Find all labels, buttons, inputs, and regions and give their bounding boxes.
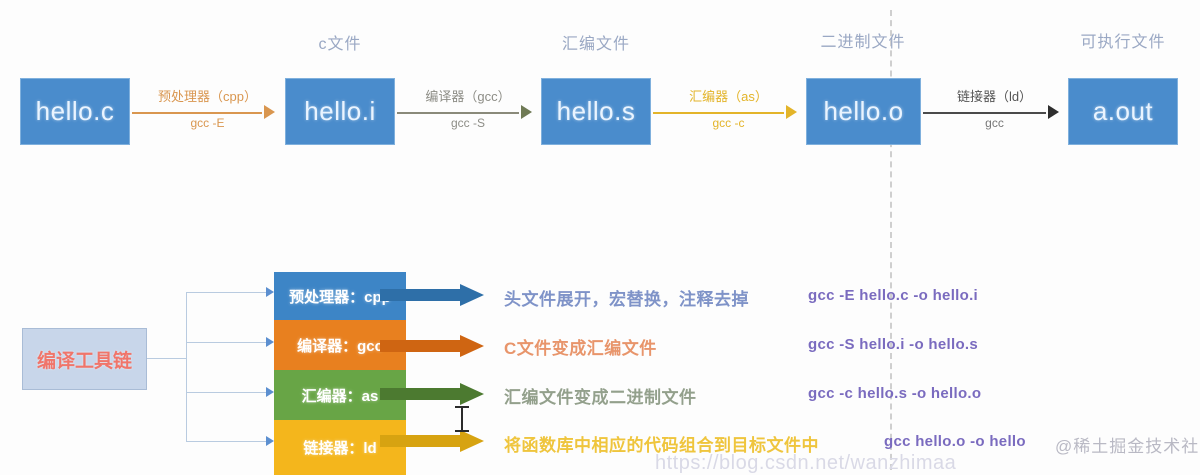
edge-assemble-line xyxy=(653,112,784,114)
stage-description-assembler: 汇编文件变成二进制文件 xyxy=(504,383,697,408)
edge-preprocess: 预处理器（cpp） gcc -E xyxy=(132,82,283,142)
edge-preprocess-line xyxy=(132,112,262,114)
toolchain-box[interactable]: 编译工具链 xyxy=(22,328,147,390)
result-arrow-preprocessor-shaft xyxy=(380,289,460,301)
result-arrow-linker-shaft xyxy=(380,435,460,447)
edge-preprocess-command: gcc -E xyxy=(132,116,283,130)
stage-command-assembler: gcc -c hello.s -o hello.o xyxy=(808,385,981,402)
stage-description-compiler: C文件变成汇编文件 xyxy=(504,334,657,359)
branch-arrow-3-icon xyxy=(266,387,274,397)
result-arrow-compiler xyxy=(380,335,485,357)
text-cursor-stem xyxy=(461,408,463,430)
branch-arm-2 xyxy=(186,342,266,343)
edge-link-label: 链接器（ld） xyxy=(923,86,1066,105)
diagram-canvas: c文件 汇编文件 二进制文件 可执行文件 hello.c hello.i hel… xyxy=(0,0,1200,475)
edge-compile-label: 编译器（gcc） xyxy=(397,86,539,105)
node-hello-s[interactable]: hello.s xyxy=(541,78,651,145)
result-arrow-linker-head xyxy=(460,430,484,452)
result-arrow-assembler-head xyxy=(460,383,484,405)
edge-assemble-label: 汇编器（as） xyxy=(653,86,804,105)
edge-compile-command: gcc -S xyxy=(397,116,539,130)
node-a-out[interactable]: a.out xyxy=(1068,78,1178,145)
edge-assemble-command: gcc -c xyxy=(653,116,804,130)
edge-link-line xyxy=(923,112,1046,114)
caption-hello-i: c文件 xyxy=(280,30,400,54)
branch-arm-3 xyxy=(186,392,266,393)
node-hello-o[interactable]: hello.o xyxy=(806,78,921,145)
watermark-url: https://blog.csdn.net/wanzhimaa xyxy=(655,452,956,475)
edge-preprocess-label: 预处理器（cpp） xyxy=(132,86,283,105)
stage-command-preprocessor: gcc -E hello.c -o hello.i xyxy=(808,287,978,304)
stage-command-linker: gcc hello.o -o hello xyxy=(884,433,1026,450)
branch-arm-1 xyxy=(186,292,266,293)
result-arrow-preprocessor-head xyxy=(460,284,484,306)
node-hello-c[interactable]: hello.c xyxy=(20,78,130,145)
branch-arrow-1-icon xyxy=(266,287,274,297)
branch-arrow-4-icon xyxy=(266,436,274,446)
result-arrow-assembler-shaft xyxy=(380,388,460,400)
caption-hello-o: 二进制文件 xyxy=(793,28,933,52)
stage-description-preprocessor: 头文件展开，宏替换，注释去掉 xyxy=(504,285,749,310)
edge-compile: 编译器（gcc） gcc -S xyxy=(397,82,539,142)
edge-link: 链接器（ld） gcc xyxy=(923,82,1066,142)
edge-compile-line xyxy=(397,112,519,114)
caption-a-out: 可执行文件 xyxy=(1053,28,1193,52)
watermark-brand: @稀土掘金技术社区 xyxy=(1055,432,1200,457)
edge-link-command: gcc xyxy=(923,116,1066,130)
result-arrow-assembler xyxy=(380,383,485,405)
branch-spine xyxy=(186,292,187,442)
result-arrow-preprocessor xyxy=(380,284,485,306)
result-arrow-compiler-shaft xyxy=(380,340,460,352)
caption-hello-s: 汇编文件 xyxy=(536,30,656,54)
result-arrow-linker xyxy=(380,430,485,452)
branch-arm-4 xyxy=(186,441,266,442)
node-hello-i[interactable]: hello.i xyxy=(285,78,395,145)
text-cursor-bottom-serif xyxy=(455,430,469,432)
text-cursor-icon xyxy=(455,406,469,432)
result-arrow-compiler-head xyxy=(460,335,484,357)
branch-arrow-2-icon xyxy=(266,337,274,347)
stage-command-compiler: gcc -S hello.i -o hello.s xyxy=(808,336,978,353)
branch-trunk xyxy=(147,358,187,359)
edge-assemble: 汇编器（as） gcc -c xyxy=(653,82,804,142)
